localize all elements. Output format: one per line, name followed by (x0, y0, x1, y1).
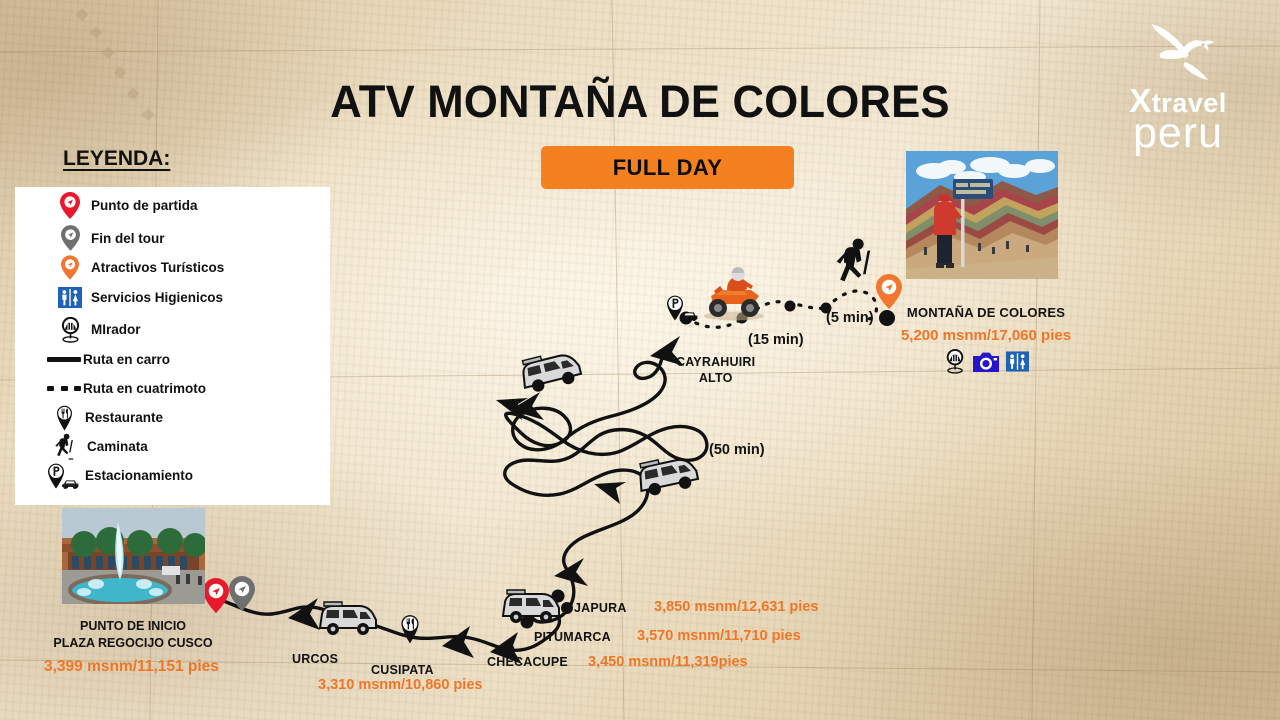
atv-quad-icon (697, 266, 771, 322)
map-pin-gray-icon (229, 576, 255, 611)
hiker-icon (836, 236, 878, 290)
van-icon (518, 352, 582, 394)
stop-label-cayrahuiri-alto: CAYRAHUIRI ALTO (676, 355, 755, 386)
stop-label-urcos: URCOS (292, 652, 338, 666)
van-icon (316, 600, 378, 640)
parking-pin-icon (664, 292, 700, 322)
mirador-icon (944, 348, 966, 374)
duration-label-car: (50 min) (709, 442, 765, 458)
restaurant-pin-icon (398, 612, 422, 644)
montana-de-colores-photo (906, 151, 1058, 279)
stop-elevation-cusipata: 3,310 msnm/10,860 pies (318, 677, 482, 693)
start-caption-line2: PLAZA REGOCIJO CUSCO (8, 635, 258, 652)
stop-elevation-pitumarca: 3,570 msnm/11,710 pies (637, 628, 801, 644)
destination-amenity-icons (886, 348, 1086, 374)
restroom-icon (1006, 351, 1029, 372)
van-icon (499, 588, 561, 628)
camera-icon (973, 351, 999, 372)
cayrahuiri-line1: CAYRAHUIRI (676, 355, 755, 371)
map-pin-red-icon (203, 578, 229, 613)
start-point-caption: PUNTO DE INICIO PLAZA REGOCIJO CUSCO (8, 618, 258, 652)
stop-elevation-japura: 3,850 msnm/12,631 pies (654, 599, 818, 615)
duration-label-atv: (15 min) (748, 332, 804, 348)
start-caption-line1: PUNTO DE INICIO (8, 618, 258, 635)
stop-label-japura: JAPURA (574, 601, 627, 615)
start-point-elevation: 3,399 msnm/11,151 pies (44, 658, 219, 676)
cayrahuiri-line2: ALTO (676, 371, 755, 387)
stop-label-checacupe: CHECACUPE (487, 655, 568, 669)
stop-label-pitumarca: PITUMARCA (534, 630, 611, 644)
destination-name: MONTAÑA DE COLORES (886, 305, 1086, 320)
van-icon (635, 456, 699, 498)
route-paths (0, 0, 1280, 720)
map-pin-orange-icon (876, 274, 902, 309)
plaza-regocijo-photo (62, 508, 205, 604)
destination-elevation: 5,200 msnm/17,060 pies (886, 327, 1086, 344)
duration-label-walk: (5 min) (826, 310, 874, 326)
stop-elevation-checacupe: 3,450 msnm/11,319pies (588, 654, 748, 670)
stop-label-cusipata: CUSIPATA (371, 663, 434, 677)
